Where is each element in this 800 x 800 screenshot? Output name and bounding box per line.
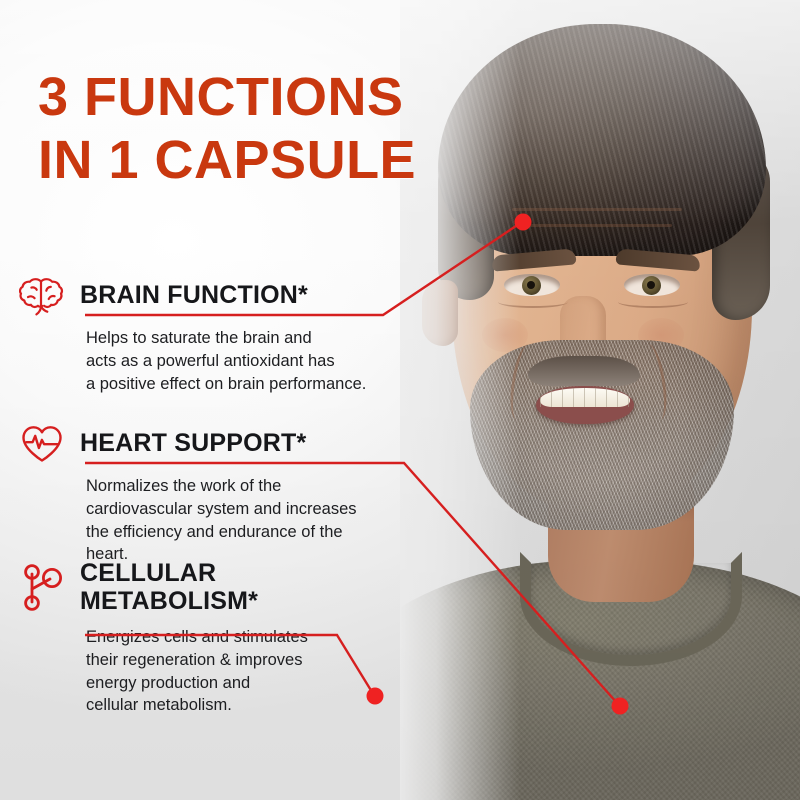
feature-title: CELLULAR METABOLISM* bbox=[80, 560, 258, 615]
feature-header: BRAIN FUNCTION* bbox=[18, 272, 388, 320]
feature-brain-function: BRAIN FUNCTION* Helps to saturate the br… bbox=[18, 272, 388, 395]
promotional-poster: 3 FUNCTIONS IN 1 CAPSULE BRAIN FUNCTION*… bbox=[0, 0, 800, 800]
feature-heart-support: HEART SUPPORT* Normalizes the work of th… bbox=[18, 420, 388, 566]
feature-cellular-metabolism: CELLULAR METABOLISM* Energizes cells and… bbox=[18, 560, 388, 717]
brain-icon bbox=[18, 272, 66, 320]
feature-description: Energizes cells and stimulates their reg… bbox=[86, 626, 388, 717]
heart-pulse-icon bbox=[18, 420, 66, 468]
feature-description: Normalizes the work of the cardiovascula… bbox=[86, 475, 388, 566]
feature-description: Helps to saturate the brain and acts as … bbox=[86, 327, 388, 395]
feature-header: CELLULAR METABOLISM* bbox=[18, 560, 388, 615]
molecule-icon bbox=[18, 564, 66, 612]
feature-title: HEART SUPPORT* bbox=[80, 430, 306, 458]
page-title: 3 FUNCTIONS IN 1 CAPSULE bbox=[38, 66, 416, 191]
feature-header: HEART SUPPORT* bbox=[18, 420, 388, 468]
feature-title: BRAIN FUNCTION* bbox=[80, 282, 308, 310]
